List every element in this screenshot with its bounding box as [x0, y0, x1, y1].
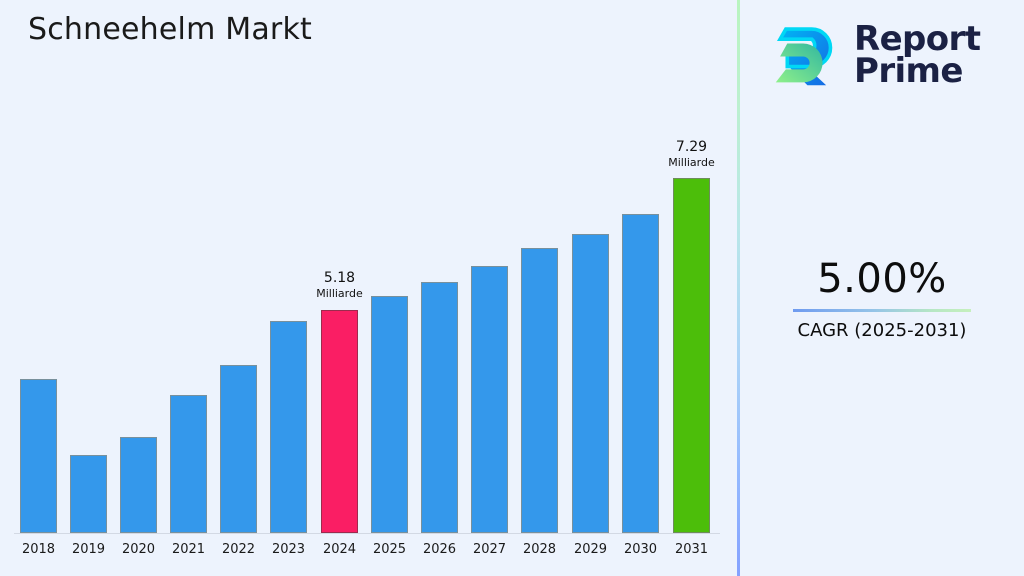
bar-2020[interactable] [120, 437, 157, 533]
x-tick-2028: 2028 [514, 542, 565, 558]
x-tick-2029: 2029 [565, 542, 616, 558]
x-tick-2026: 2026 [414, 542, 465, 558]
brand-logo: Report Prime [770, 12, 1014, 98]
x-tick-2023: 2023 [263, 542, 314, 558]
bar-2019[interactable] [70, 455, 107, 533]
bar-value-2031-unit: Milliarde [642, 156, 741, 170]
bar-2029[interactable] [572, 234, 609, 533]
x-axis-line [14, 533, 720, 534]
bar-value-2024: 5.18 Milliarde [290, 270, 389, 301]
right-panel: Report Prime 5.00% CAGR (2025-2031) [740, 0, 1024, 576]
bar-value-2031: 7.29 Milliarde [642, 139, 741, 170]
x-tick-2031: 2031 [666, 542, 717, 558]
cagr-divider-rule [793, 309, 971, 312]
report-prime-r-logo-icon [770, 19, 842, 91]
bar-2021[interactable] [170, 395, 207, 533]
x-tick-2019: 2019 [63, 542, 114, 558]
bar-2022[interactable] [220, 365, 257, 533]
bar-value-2024-unit: Milliarde [290, 287, 389, 301]
brand-wordmark: Report Prime [854, 23, 980, 88]
cagr-block: 5.00% CAGR (2025-2031) [740, 255, 1024, 343]
bar-2018[interactable] [20, 379, 57, 533]
x-tick-2018: 2018 [13, 542, 64, 558]
cagr-caption: CAGR (2025-2031) [740, 319, 1024, 343]
x-tick-2025: 2025 [364, 542, 415, 558]
x-tick-2024: 2024 [314, 542, 365, 558]
cagr-value: 5.00% [740, 255, 1024, 303]
brand-name-line2: Prime [854, 55, 980, 87]
chart-page: Schneehelm Markt 5.18 Milliarde 7.29 Mil… [0, 0, 1024, 576]
bar-2028[interactable] [521, 248, 558, 533]
bar-2030[interactable] [622, 214, 659, 533]
x-tick-2021: 2021 [163, 542, 214, 558]
bar-chart: 5.18 Milliarde 7.29 Milliarde 2018 2019 … [0, 0, 737, 576]
x-tick-2027: 2027 [464, 542, 515, 558]
bar-value-2031-number: 7.29 [676, 139, 707, 155]
x-tick-2020: 2020 [113, 542, 164, 558]
x-tick-2030: 2030 [615, 542, 666, 558]
x-tick-2022: 2022 [213, 542, 264, 558]
bar-2027[interactable] [471, 266, 508, 533]
bar-2024[interactable] [321, 310, 358, 533]
bar-2023[interactable] [270, 321, 307, 533]
bar-2026[interactable] [421, 282, 458, 533]
bar-2025[interactable] [371, 296, 408, 533]
bar-2031[interactable] [673, 178, 710, 533]
bar-value-2024-number: 5.18 [324, 270, 355, 286]
